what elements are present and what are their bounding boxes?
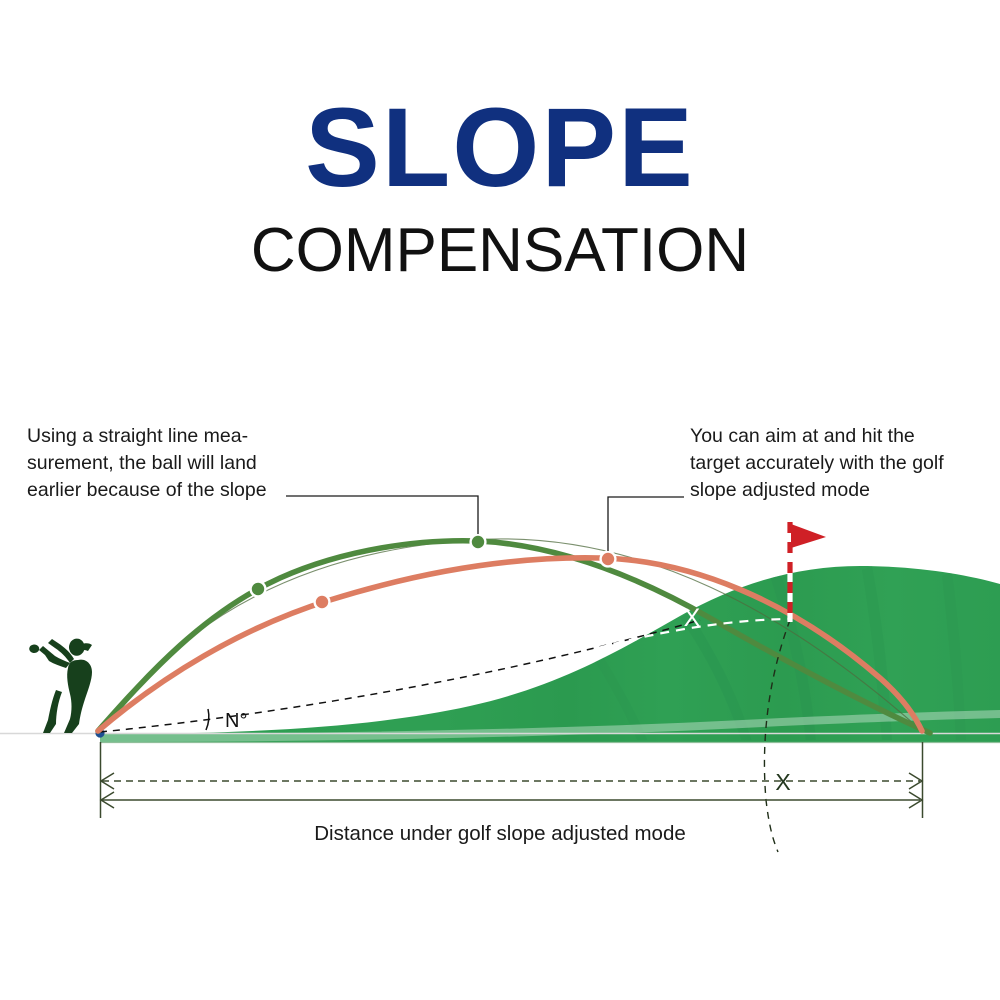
annotation-straight-line: Using a straight line mea- surement, the…	[27, 423, 327, 504]
annotation-slope-mode: You can aim at and hit the target accura…	[690, 423, 990, 504]
marker-red-apex	[601, 552, 616, 567]
marker-green-apex	[471, 535, 486, 550]
slope-x-mark: X	[684, 604, 701, 632]
marker-green-early	[251, 582, 266, 597]
marker-red-early	[315, 595, 330, 610]
flag-banner	[791, 524, 826, 548]
golfer-silhouette	[29, 639, 92, 733]
distance-caption: Distance under golf slope adjusted mode	[0, 822, 1000, 846]
ground-x-mark: X	[775, 769, 790, 795]
infographic-canvas: SLOPE COMPENSATION	[0, 0, 1000, 1000]
leader-line-right	[608, 497, 684, 551]
measurement-group	[101, 742, 923, 818]
angle-label: N°	[225, 710, 247, 732]
